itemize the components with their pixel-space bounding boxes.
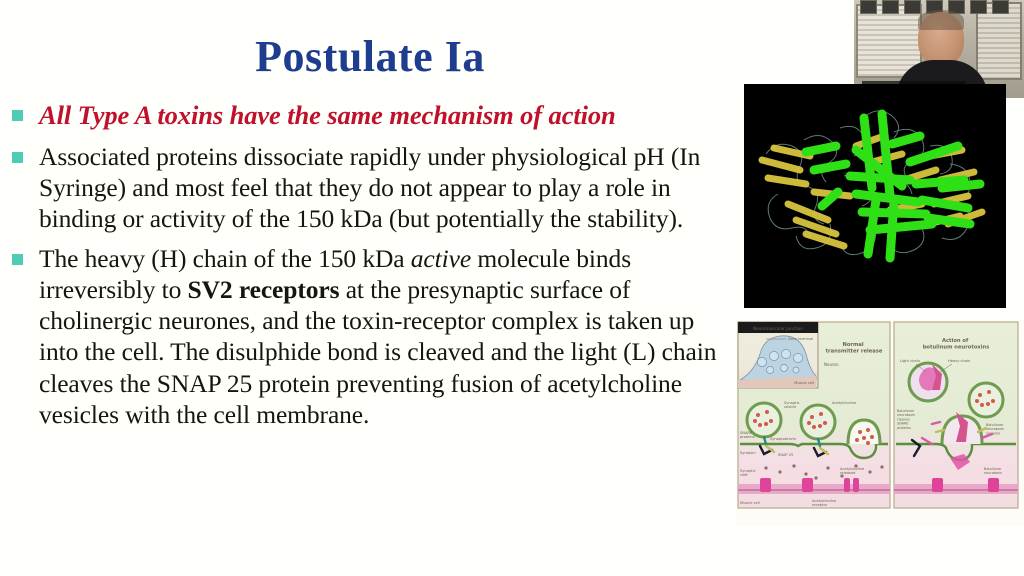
protein-structure-image: [744, 84, 1006, 308]
diagram-label-neuron: Neuron: [824, 362, 839, 367]
bullet-text-heavy-chain: The heavy (H) chain of the 150 kDa activ…: [39, 243, 734, 430]
bullet-item-heavy-chain: The heavy (H) chain of the 150 kDa activ…: [0, 243, 734, 430]
mechanism-diagram-image: Neuromuscular junction Axon terminal Mus…: [736, 320, 1024, 526]
botulinum-mechanism-svg: Neuromuscular junction Axon terminal Mus…: [736, 320, 1024, 526]
diagram-label-light-chain: Light chain: [900, 359, 920, 363]
bullet-item-emphasis: All Type A toxins have the same mechanis…: [0, 100, 734, 132]
media-column: Mark Nestor, MD, Ph...: [736, 0, 1024, 576]
speaker-hair: [918, 10, 964, 30]
presentation-slide: Postulate Ia All Type A toxins have the …: [0, 0, 1024, 576]
diagram-label-syntaxin: Syntaxin: [740, 451, 756, 455]
square-bullet-icon: [12, 254, 23, 265]
text-italic-active: active: [411, 244, 471, 273]
diagram-label-acetylcholine: Acetylcholine: [832, 401, 857, 405]
diagram-label-heavy-chain: Heavy chain: [948, 359, 970, 363]
diagram-label-snap-25: SNAP 25: [778, 453, 793, 457]
diagram-label-axon-terminal: Axon terminal: [788, 337, 813, 341]
diagram-label-botulinum-neurotoxin: Botulinum neurotoxin: [984, 467, 1002, 475]
protein-ribbon-svg: [744, 84, 1006, 308]
slide-bullet-list: All Type A toxins have the same mechanis…: [0, 100, 734, 439]
bullet-text-associated-proteins: Associated proteins dissociate rapidly u…: [39, 141, 734, 234]
square-bullet-icon: [12, 152, 23, 163]
bullet-text-emphasis: All Type A toxins have the same mechanis…: [39, 100, 734, 132]
diagram-inset-title: Neuromuscular junction: [753, 326, 803, 331]
diagram-label-muscle-cell-inset: Muscle cell: [794, 381, 814, 385]
page-title: Postulate Ia: [0, 34, 740, 80]
bullet-item-associated-proteins: Associated proteins dissociate rapidly u…: [0, 141, 734, 234]
text-bold-sv2-receptors: SV2 receptors: [188, 275, 340, 304]
text-part-1: The heavy (H) chain of the 150 kDa: [39, 244, 411, 273]
diagram-label-muscle-cell: Muscle cell: [740, 501, 760, 505]
square-bullet-icon: [12, 110, 23, 121]
diagram-label-synaptobrevin: Synaptobrevin: [770, 437, 796, 441]
